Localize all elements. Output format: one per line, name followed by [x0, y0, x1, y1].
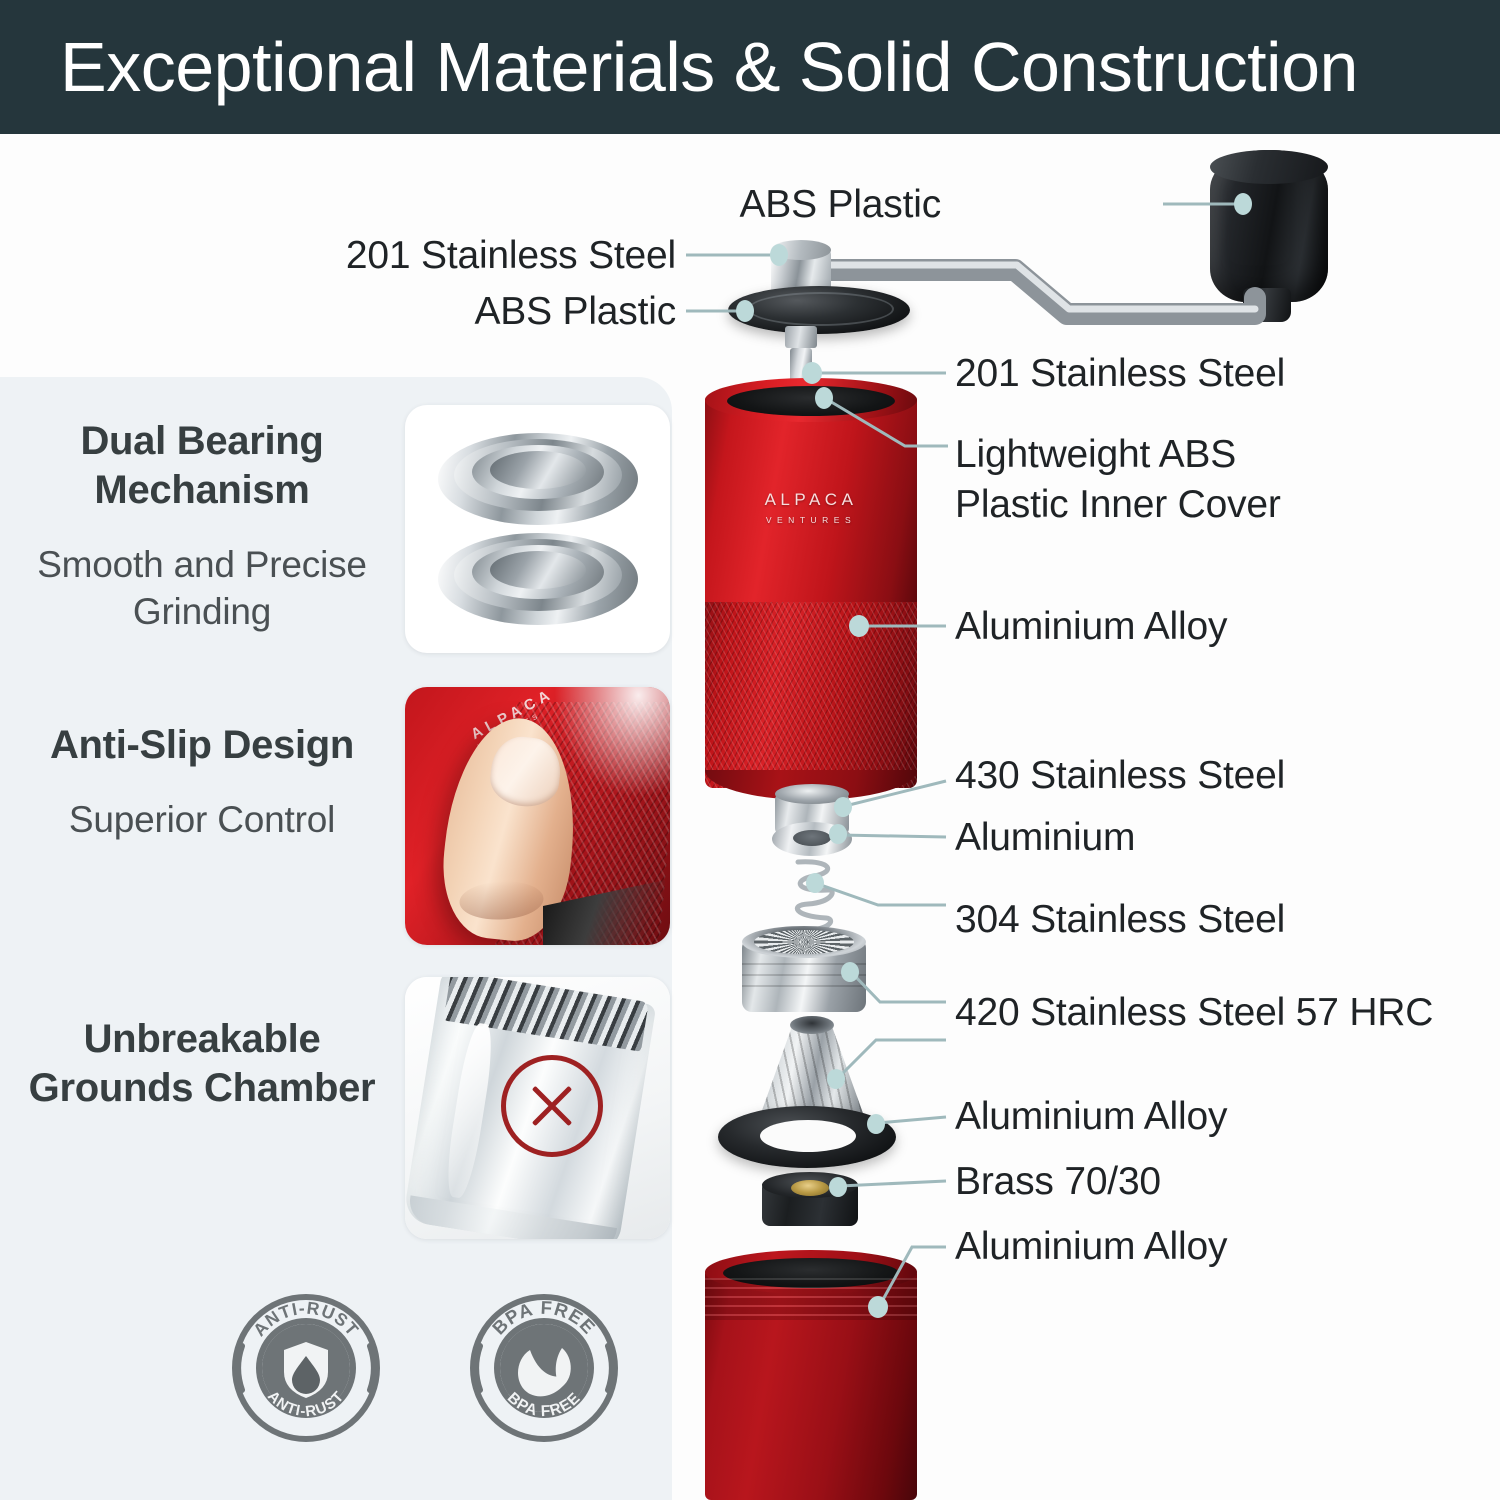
callout-washer: Aluminium — [955, 813, 1135, 863]
callout-brass-nut: Brass 70/30 — [955, 1157, 1161, 1207]
callout-body: Aluminium Alloy — [955, 602, 1227, 652]
callout-top-shaft: 201 Stainless Steel — [346, 231, 676, 281]
callout-inner-cover: Lightweight ABS Plastic Inner Cover — [955, 430, 1345, 530]
callout-cap-disc: ABS Plastic — [474, 287, 676, 337]
callout-spring: 304 Stainless Steel — [955, 895, 1285, 945]
callout-knob: ABS Plastic — [739, 180, 941, 230]
infographic-root: Exceptional Materials & Solid Constructi… — [0, 0, 1500, 1500]
callout-base: Aluminium Alloy — [955, 1222, 1227, 1272]
callout-burr: 420 Stainless Steel 57 HRC — [955, 988, 1433, 1038]
callout-drive-bit: 201 Stainless Steel — [955, 349, 1285, 399]
callout-bearing: 430 Stainless Steel — [955, 751, 1285, 801]
callout-burr-holder: Aluminium Alloy — [955, 1092, 1227, 1142]
